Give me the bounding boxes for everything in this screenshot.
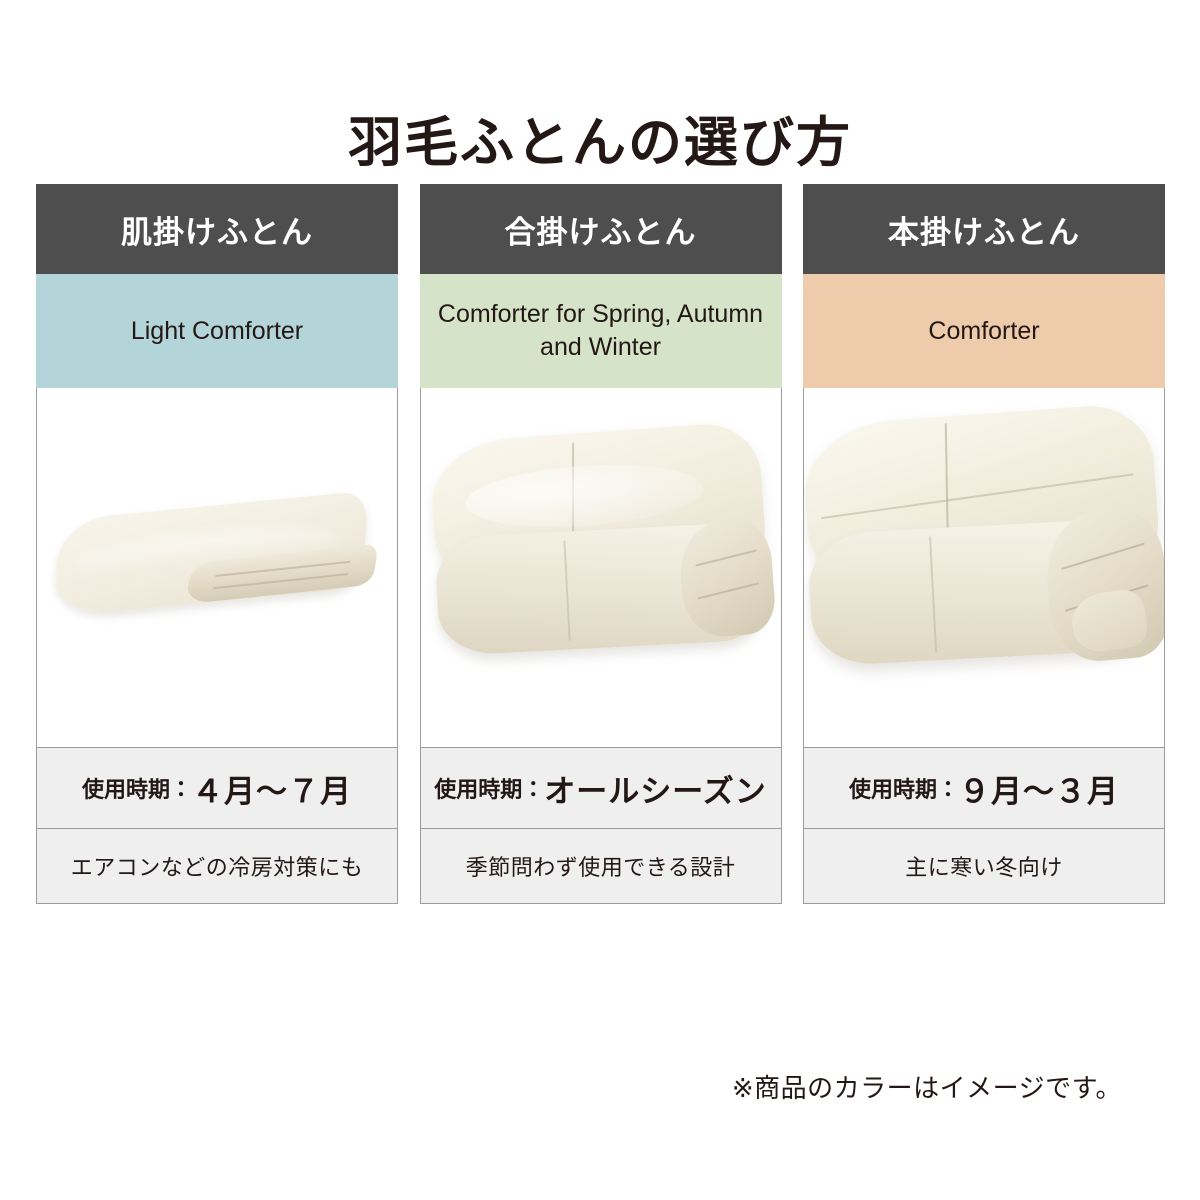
- comparison-column-allseason: 合掛けふとん Comforter for Spring, Autumn and …: [420, 184, 782, 904]
- product-photo-allseason: [420, 388, 782, 747]
- column-subtitle-en-light: Light Comforter: [36, 274, 398, 388]
- usage-period-value-allseason: オールシーズン: [544, 766, 766, 811]
- usage-period-label-winter: 使用時期：: [849, 772, 959, 804]
- usage-period-value-winter: ９月〜３月: [959, 766, 1119, 811]
- usage-period-row-allseason: 使用時期： オールシーズン: [420, 747, 782, 829]
- column-header-jp-light: 肌掛けふとん: [36, 184, 398, 274]
- column-subtitle-en-allseason: Comforter for Spring, Autumn and Winter: [420, 274, 782, 388]
- usage-note-winter: 主に寒い冬向け: [803, 829, 1165, 904]
- page-title: 羽毛ふとんの選び方: [0, 114, 1200, 173]
- comparison-column-winter: 本掛けふとん Comforter 使用時期： ９月〜３月 主に寒い冬向け: [803, 184, 1165, 904]
- usage-period-value-light: ４月〜７月: [192, 766, 352, 811]
- column-header-jp-allseason: 合掛けふとん: [420, 184, 782, 274]
- duvet-illustration-thin: [52, 484, 382, 634]
- product-photo-winter: [803, 388, 1165, 747]
- usage-period-row-winter: 使用時期： ９月〜３月: [803, 747, 1165, 829]
- usage-period-row-light: 使用時期： ４月〜７月: [36, 747, 398, 829]
- column-header-jp-winter: 本掛けふとん: [803, 184, 1165, 274]
- usage-note-light: エアコンなどの冷房対策にも: [36, 829, 398, 904]
- comparison-grid: 肌掛けふとん Light Comforter 使用時期： ４月〜７月 エアコンな…: [36, 184, 1165, 904]
- usage-note-allseason: 季節問わず使用できる設計: [420, 829, 782, 904]
- usage-period-label-allseason: 使用時期：: [434, 772, 544, 804]
- comparison-column-light: 肌掛けふとん Light Comforter 使用時期： ４月〜７月 エアコンな…: [36, 184, 398, 904]
- product-photo-light: [36, 388, 398, 747]
- duvet-illustration-thick: [803, 406, 1165, 696]
- column-subtitle-en-winter: Comforter: [803, 274, 1165, 388]
- infographic-page: 羽毛ふとんの選び方 肌掛けふとん Light Comforter 使用時期： ４…: [0, 0, 1200, 1200]
- color-disclaimer-footnote: ※商品のカラーはイメージです。: [732, 1068, 1122, 1105]
- duvet-illustration-medium: [425, 422, 777, 672]
- usage-period-label-light: 使用時期：: [82, 772, 192, 804]
